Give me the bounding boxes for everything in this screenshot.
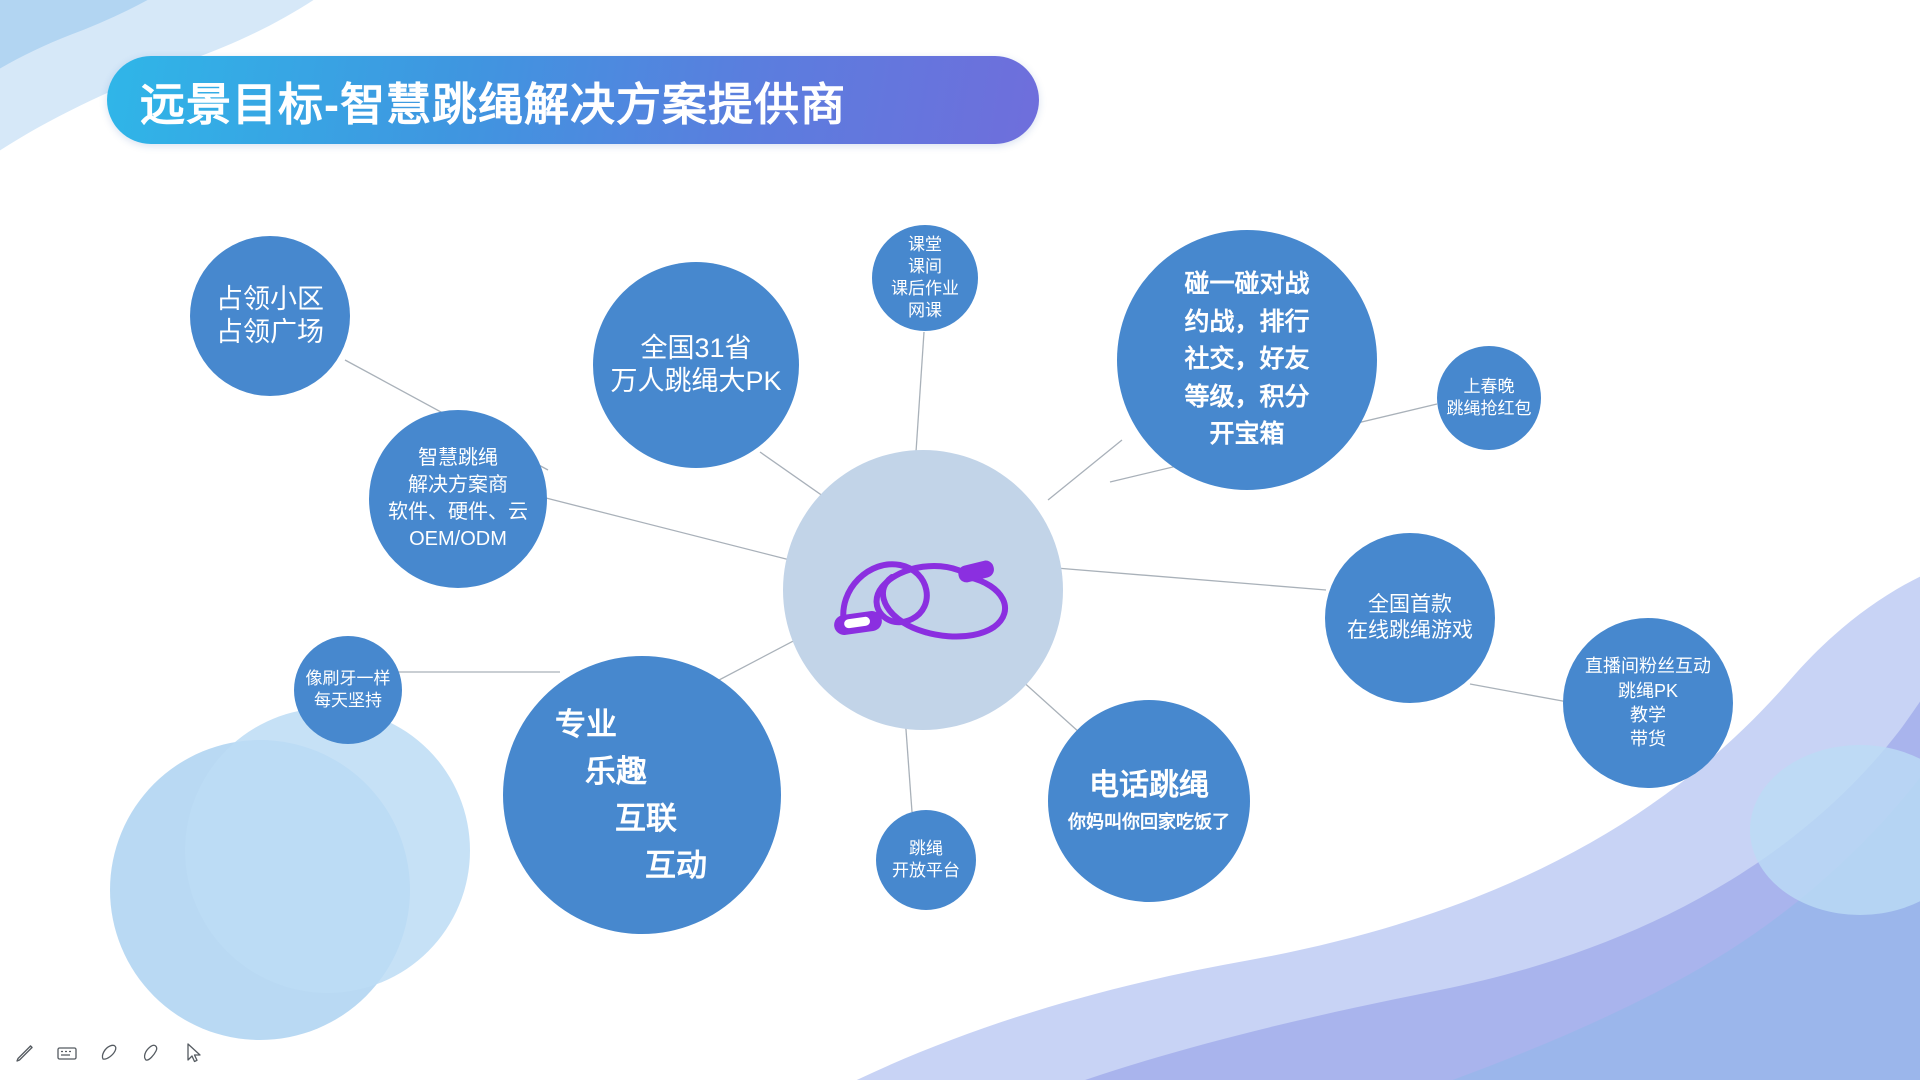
node-line: OEM/ODM <box>409 526 507 553</box>
connector-solution-hub <box>546 498 790 560</box>
connector-battle-hub <box>1048 440 1122 500</box>
node-line: 占领广场 <box>216 316 324 349</box>
node-smart-rope-solution[interactable]: 智慧跳绳 解决方案商 软件、硬件、云 OEM/ODM <box>369 410 547 588</box>
node-core-values[interactable]: 专业 乐趣 互联 互动 <box>503 656 781 934</box>
node-subtitle: 你妈叫你回家吃饭了 <box>1068 812 1230 834</box>
node-line: 万人跳绳大PK <box>610 365 781 398</box>
node-line: 互动 <box>555 842 707 889</box>
connector-class-hub <box>916 332 924 452</box>
node-line: 全国首款 <box>1368 592 1452 618</box>
eraser-icon[interactable] <box>138 1040 164 1066</box>
node-line: 跳绳PK <box>1618 679 1678 703</box>
highlighter-icon[interactable] <box>96 1040 122 1066</box>
node-line: 碰一碰对战 <box>1184 266 1309 304</box>
node-social-battle-features[interactable]: 碰一碰对战 约战，排行 社交，好友 等级，积分 开宝箱 <box>1117 230 1377 490</box>
node-line: 直播间粉丝互动 <box>1585 654 1711 678</box>
node-line: 全国31省 <box>640 332 751 365</box>
connector-platform-hub <box>905 716 912 812</box>
node-line: 社交，好友 <box>1184 341 1309 379</box>
cursor-icon[interactable] <box>180 1040 206 1066</box>
node-line: 跳绳抢红包 <box>1447 398 1532 420</box>
node-line: 网课 <box>908 300 942 322</box>
node-line: 跳绳 <box>909 838 943 860</box>
node-open-platform[interactable]: 跳绳 开放平台 <box>876 810 976 910</box>
node-line: 乐趣 <box>555 748 647 795</box>
node-classroom-scenarios[interactable]: 课堂 课间 课后作业 网课 <box>872 225 978 331</box>
node-line: 占领小区 <box>216 283 324 316</box>
node-line: 软件、硬件、云 <box>388 499 528 526</box>
node-line: 课间 <box>908 256 942 278</box>
node-line: 开宝箱 <box>1209 416 1284 454</box>
node-line: 等级，积分 <box>1184 379 1309 417</box>
node-occupy-community[interactable]: 占领小区 占领广场 <box>190 236 350 396</box>
keyboard-icon[interactable] <box>54 1040 80 1066</box>
node-line: 智慧跳绳 <box>418 445 498 472</box>
node-line: 约战，排行 <box>1184 304 1309 342</box>
node-line: 带货 <box>1630 727 1666 751</box>
annotation-toolbar[interactable] <box>12 1040 206 1066</box>
node-line: 像刷牙一样 <box>306 668 391 690</box>
pen-icon[interactable] <box>12 1040 38 1066</box>
node-line: 上春晚 <box>1464 376 1515 398</box>
node-line: 解决方案商 <box>408 472 508 499</box>
node-line: 专业 <box>555 701 617 748</box>
node-daily-habit[interactable]: 像刷牙一样 每天坚持 <box>294 636 402 744</box>
connector-game-live <box>1470 684 1568 702</box>
node-phone-jump-rope[interactable]: 电话跳绳 你妈叫你回家吃饭了 <box>1048 700 1250 902</box>
node-line: 课后作业 <box>891 278 959 300</box>
node-line: 开放平台 <box>892 860 960 882</box>
node-line: 课堂 <box>908 234 942 256</box>
node-line: 在线跳绳游戏 <box>1347 618 1473 644</box>
central-hub[interactable] <box>783 450 1063 730</box>
slide-canvas: 远景目标-智慧跳绳解决方案提供商 <box>0 0 1920 1080</box>
node-online-rope-game[interactable]: 全国首款 在线跳绳游戏 <box>1325 533 1495 703</box>
jump-rope-icon <box>808 515 1038 665</box>
node-title: 电话跳绳 <box>1089 768 1209 805</box>
node-line: 每天坚持 <box>314 690 382 712</box>
node-spring-festival-gala[interactable]: 上春晚 跳绳抢红包 <box>1437 346 1541 450</box>
node-national-31-provinces-pk[interactable]: 全国31省 万人跳绳大PK <box>593 262 799 468</box>
node-line: 教学 <box>1630 703 1666 727</box>
node-line: 互联 <box>555 795 677 842</box>
connector-game-hub <box>1056 568 1326 590</box>
node-livestream-interaction[interactable]: 直播间粉丝互动 跳绳PK 教学 带货 <box>1563 618 1733 788</box>
